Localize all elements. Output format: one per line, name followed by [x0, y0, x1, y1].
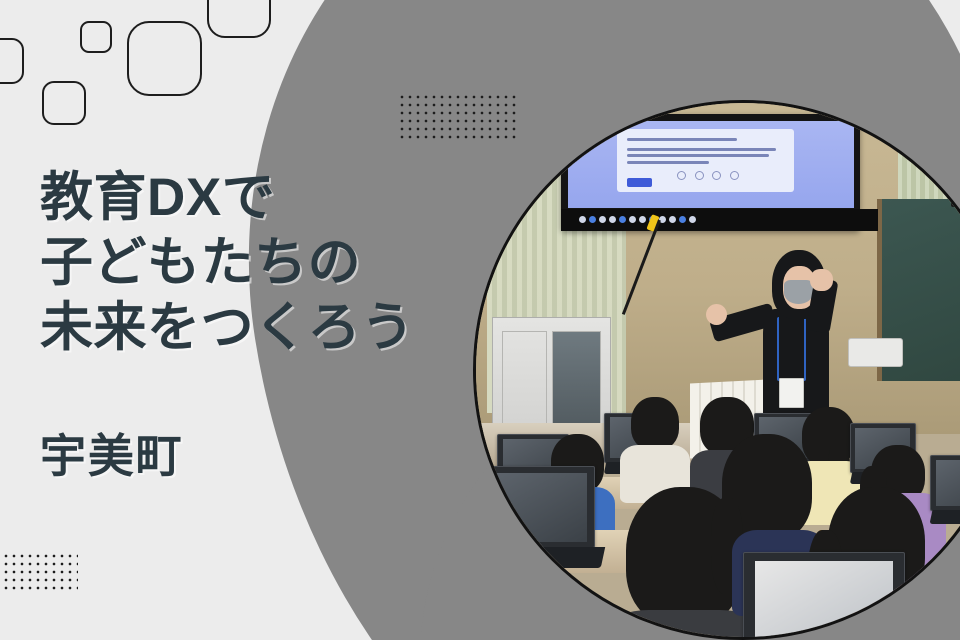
- projector-unit: [848, 338, 903, 367]
- rounded-square-medium: [42, 81, 86, 125]
- display-taskbar: [561, 209, 878, 231]
- teacher-hand-right: [810, 269, 832, 291]
- display-screen: [568, 121, 854, 208]
- rounded-square-small-top: [80, 21, 112, 53]
- teacher-id-badge: [779, 378, 803, 408]
- teacher-hand-left: [706, 304, 727, 325]
- student-laptop-front: [487, 466, 596, 548]
- rounded-square-large: [127, 21, 202, 96]
- page-title: 教育DXで 子どもたちの 未来をつくろう: [40, 165, 470, 361]
- organization-name: 宇美町: [40, 420, 184, 486]
- banner-canvas: 教育DXで 子どもたちの 未来をつくろう 宇美町: [0, 0, 960, 640]
- classroom-photo-circle: [473, 100, 960, 640]
- teacher-lanyard: [777, 317, 806, 381]
- classroom-scene: [476, 103, 960, 637]
- dot-grid-bottom-left: [0, 552, 78, 594]
- student-laptop: [930, 455, 960, 510]
- rounded-square-edge-left: [0, 38, 24, 84]
- student-laptop-foreground: [743, 552, 905, 640]
- teacher-face-mask: [784, 280, 814, 303]
- rounded-square-top-cut: [207, 0, 271, 38]
- screen-form-card: [617, 129, 794, 192]
- wall-mounted-display: [561, 114, 860, 231]
- digital-clock: [951, 178, 960, 207]
- screen-submit-chip: [627, 178, 652, 187]
- student-head: [631, 397, 679, 450]
- clock-display: [956, 184, 960, 200]
